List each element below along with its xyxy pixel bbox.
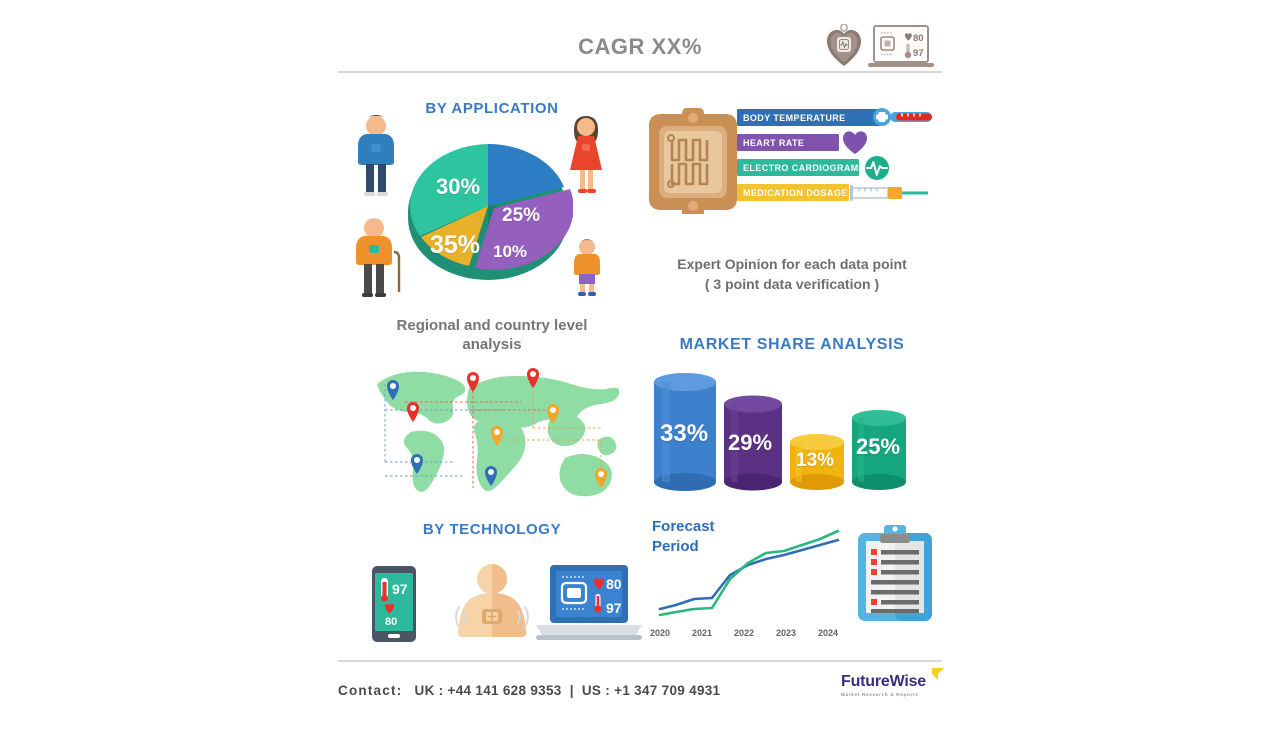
- thermometer-icon: [871, 107, 937, 127]
- forecast-xtick-2023: 2023: [768, 628, 804, 638]
- label-heart-rate: HEART RATE: [737, 134, 839, 151]
- adult-man-figure: [354, 114, 398, 196]
- forecast-xtick-2021: 2021: [684, 628, 720, 638]
- regional-analysis-title: Regional and country level analysis: [342, 316, 642, 354]
- laptop-vitals-icon: 80 97: [868, 25, 934, 71]
- application-pie-chart: 30% 25% 10% 35%: [408, 116, 573, 291]
- market-share-section: MARKET SHARE ANALYSIS: [642, 308, 942, 513]
- forecast-xtick-2020: 2020: [642, 628, 678, 638]
- elderly-man-figure: [354, 216, 402, 298]
- label-medication-dosage: MEDICATION DOSAGE: [737, 184, 849, 201]
- world-map: [369, 362, 619, 507]
- label-body-temperature: BODY TEMPERATURE: [737, 109, 882, 126]
- expert-opinion-line-2: ( 3 point data verification ): [642, 274, 942, 294]
- uk-phone[interactable]: +44 141 628 9353: [448, 683, 562, 698]
- clipboard-checklist-icon: [858, 525, 932, 621]
- us-label: US :: [582, 683, 610, 698]
- header-icon-group: 80 97: [826, 22, 936, 70]
- pie-label-30: 30%: [436, 174, 480, 200]
- expert-opinion-text: Expert Opinion for each data point ( 3 p…: [642, 254, 942, 294]
- svg-text:97: 97: [606, 600, 622, 616]
- contact-separator: |: [570, 683, 574, 698]
- label-electro-cardiogram: ELECTRO CARDIOGRAM: [737, 159, 859, 176]
- svg-text:80: 80: [606, 576, 622, 592]
- forecast-series-blue: [660, 540, 838, 609]
- regional-analysis-section: Regional and country level analysis: [342, 308, 642, 513]
- infographic-page: CAGR XX% 80 97: [336, 0, 944, 731]
- bar-value-4: 25%: [856, 434, 900, 460]
- svg-text:97: 97: [913, 48, 924, 59]
- biosensor-patch-icon: [647, 106, 739, 218]
- forecast-xtick-2024: 2024: [810, 628, 846, 638]
- by-technology-section: BY TECHNOLOGY 97 80: [342, 513, 642, 658]
- syringe-icon: [850, 181, 936, 205]
- label-electro-cardiogram-text: ELECTRO CARDIOGRAM: [743, 163, 859, 173]
- pie-label-10: 10%: [493, 242, 527, 262]
- laptop-vitals-icon-tech: 80 97: [536, 565, 642, 643]
- smartphone-vitals-icon: 97 80: [372, 566, 416, 642]
- sensor-panel-section: BODY TEMPERATURE HEART RATE ELECTRO CARD…: [642, 88, 942, 308]
- forecast-xtick-2022: 2022: [726, 628, 762, 638]
- forecast-section: Forecast Period 2020 2021 2022 2023 2024: [642, 513, 942, 658]
- logo-tagline: Market Research & Reports: [841, 692, 941, 697]
- svg-text:80: 80: [385, 616, 397, 628]
- logo-flag-icon: [931, 667, 945, 681]
- label-body-temperature-text: BODY TEMPERATURE: [743, 113, 846, 123]
- by-technology-title: BY TECHNOLOGY: [342, 521, 642, 538]
- regional-title-line-2: analysis: [342, 335, 642, 354]
- bar-value-3: 13%: [796, 450, 834, 472]
- expert-opinion-line-1: Expert Opinion for each data point: [642, 254, 942, 274]
- map-marker-red-1: [407, 402, 419, 422]
- svg-text:97: 97: [392, 581, 408, 597]
- contact-label: Contact:: [338, 683, 402, 698]
- ecg-icon: [864, 155, 890, 181]
- futurewise-logo[interactable]: FutureWise Market Research & Reports: [841, 673, 941, 705]
- us-phone[interactable]: +1 347 709 4931: [614, 683, 720, 698]
- label-heart-rate-text: HEART RATE: [743, 138, 804, 148]
- bar-value-1: 33%: [660, 420, 708, 448]
- logo-text: FutureWise: [841, 673, 926, 690]
- uk-label: UK :: [415, 683, 444, 698]
- heart-icon: [842, 129, 868, 155]
- heart-locket-icon: [826, 24, 862, 68]
- footer-divider: [338, 660, 942, 662]
- forecast-line-chart: [650, 523, 846, 621]
- svg-text:80: 80: [913, 33, 924, 44]
- contact-line: Contact: UK : +44 141 628 9353 | US : +1…: [338, 683, 720, 698]
- header-divider: [338, 71, 942, 73]
- label-medication-dosage-text: MEDICATION DOSAGE: [743, 188, 848, 198]
- by-application-section: BY APPLICATION: [342, 88, 642, 308]
- pie-label-25: 25%: [502, 205, 540, 227]
- regional-title-line-1: Regional and country level: [342, 316, 642, 335]
- child-boy-figure: [572, 238, 602, 296]
- pie-label-35: 35%: [430, 231, 480, 260]
- header: CAGR XX% 80 97: [336, 0, 944, 72]
- body-sensor-icon: [446, 563, 538, 643]
- market-share-title: MARKET SHARE ANALYSIS: [642, 336, 942, 354]
- bar-value-2: 29%: [728, 430, 772, 456]
